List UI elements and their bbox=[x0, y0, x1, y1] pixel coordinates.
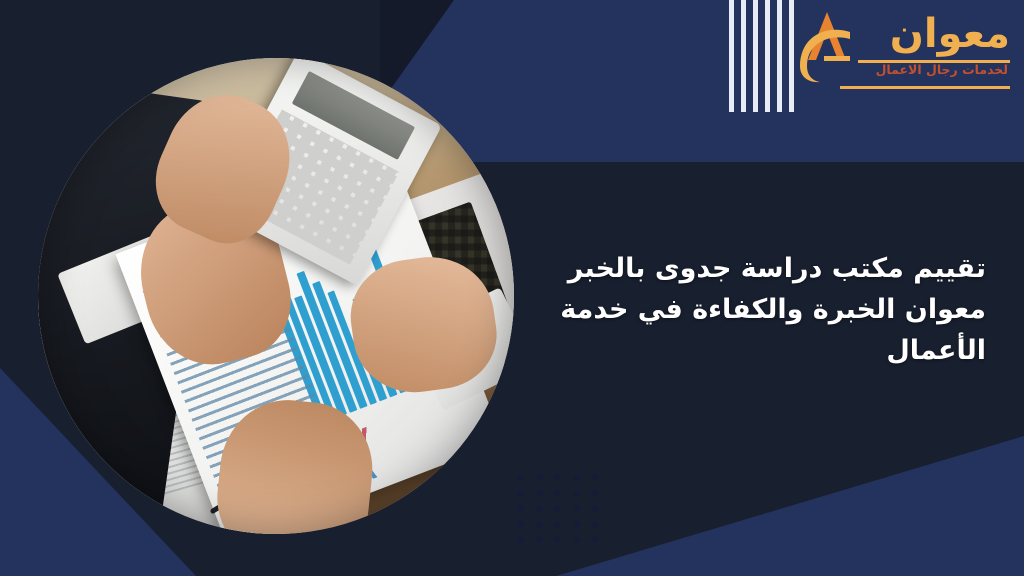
vertical-bar bbox=[729, 0, 734, 112]
grid-dot bbox=[554, 474, 561, 481]
grid-dot bbox=[554, 536, 561, 543]
vertical-bar bbox=[753, 0, 758, 112]
grid-dot bbox=[536, 536, 543, 543]
grid-dot bbox=[554, 490, 561, 497]
photo-vignette bbox=[38, 58, 514, 534]
grid-dot bbox=[536, 490, 543, 497]
grid-dot bbox=[536, 474, 543, 481]
grid-dot bbox=[591, 536, 598, 543]
grid-dot bbox=[573, 521, 580, 528]
grid-dot bbox=[591, 521, 598, 528]
vertical-bar bbox=[765, 0, 770, 112]
dot-grid-icon bbox=[506, 474, 598, 552]
grid-dot bbox=[573, 474, 580, 481]
logo-rule-bottom bbox=[840, 86, 1010, 89]
grid-dot bbox=[517, 521, 524, 528]
grid-dot bbox=[573, 490, 580, 497]
logo-wordmark: معوان bbox=[890, 14, 1010, 54]
headline-block: تقييم مكتب دراسة جدوى بالخبر معوان الخبر… bbox=[516, 248, 986, 371]
grid-dot bbox=[591, 490, 598, 497]
vertical-bars-icon bbox=[722, 0, 794, 112]
vertical-bar bbox=[741, 0, 746, 112]
grid-dot bbox=[591, 474, 598, 481]
grid-dot bbox=[554, 521, 561, 528]
brand-logo[interactable]: معوان لخدمات رجال الاعمال bbox=[820, 6, 1010, 98]
grid-dot bbox=[536, 505, 543, 512]
headline-line-2: معوان الخبرة والكفاءة في خدمة الأعمال bbox=[516, 289, 986, 371]
grid-dot bbox=[517, 505, 524, 512]
headline-line-1: تقييم مكتب دراسة جدوى بالخبر bbox=[516, 248, 986, 289]
grid-dot bbox=[573, 505, 580, 512]
logo-tagline: لخدمات رجال الاعمال bbox=[876, 64, 1008, 77]
grid-dot bbox=[517, 490, 524, 497]
grid-dot bbox=[573, 536, 580, 543]
vertical-bar bbox=[777, 0, 782, 112]
grid-dot bbox=[517, 536, 524, 543]
grid-dot bbox=[554, 505, 561, 512]
grid-dot bbox=[517, 474, 524, 481]
peak-a-swoosh-icon bbox=[794, 8, 860, 84]
hero-photo-content bbox=[38, 58, 514, 534]
grid-dot bbox=[591, 505, 598, 512]
hero-photo bbox=[38, 58, 514, 534]
banner-canvas: معوان لخدمات رجال الاعمال تقييم مكتب درا… bbox=[0, 0, 1024, 576]
grid-dot bbox=[536, 521, 543, 528]
